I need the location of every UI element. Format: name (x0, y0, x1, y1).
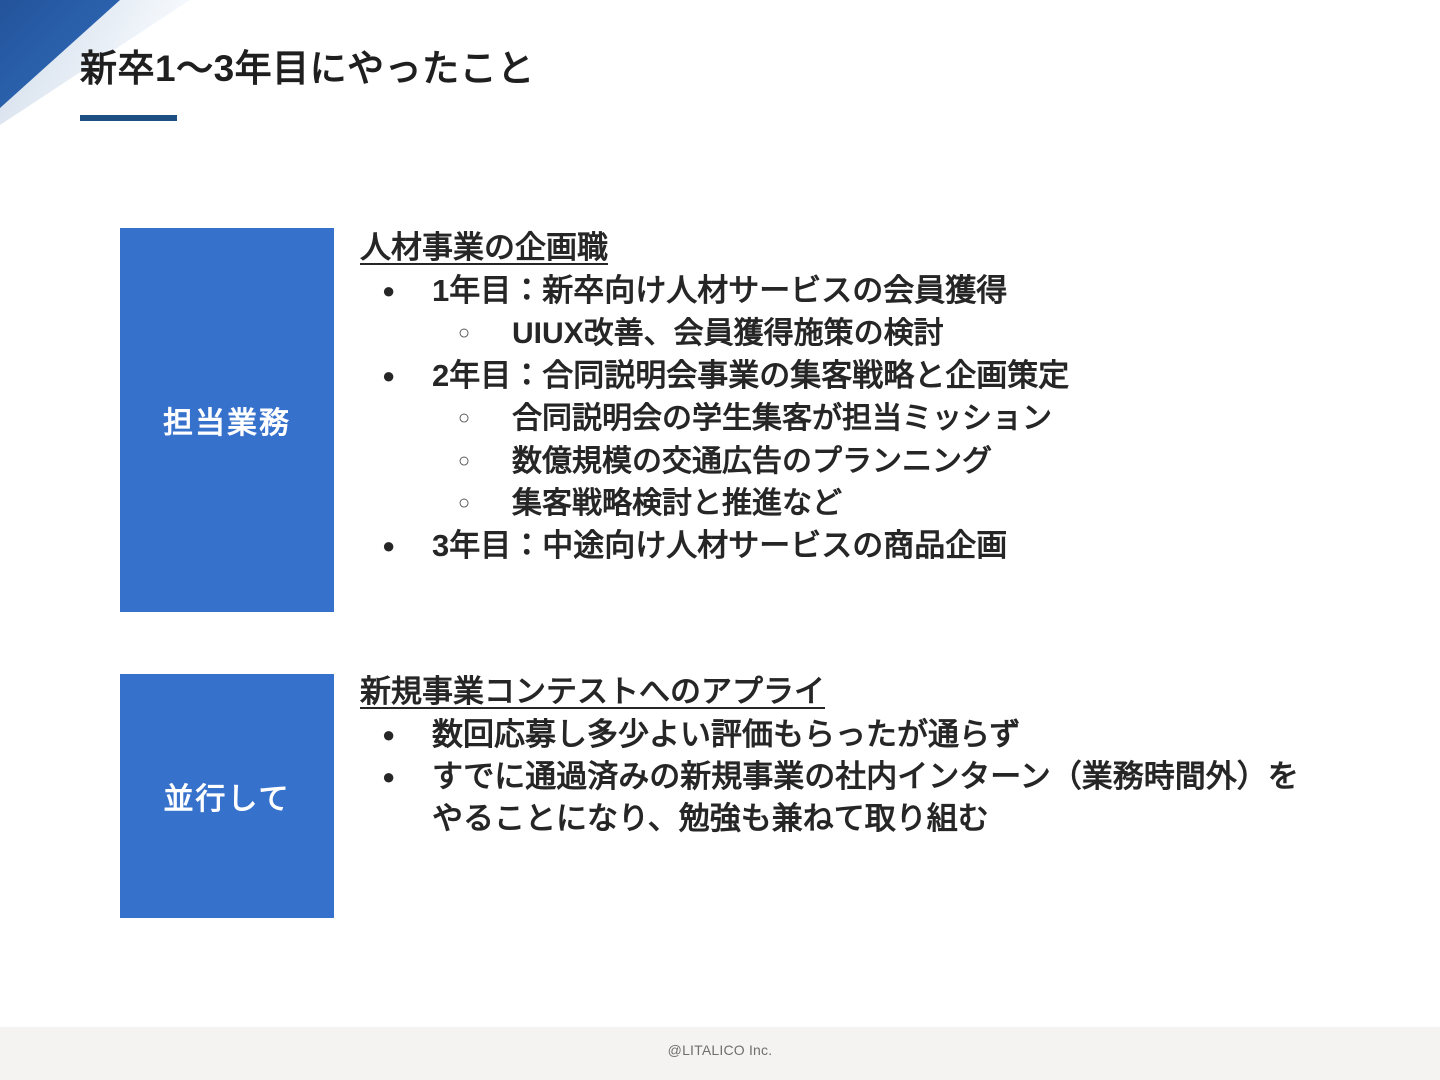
bullet-list-parallel: ● 数回応募し多少よい評価もらったが通らず ● すでに通過済みの新規事業の社内イ… (360, 714, 1310, 840)
section-heading: 人材事業の企画職 (360, 228, 1310, 268)
slide-canvas: 新卒1〜3年目にやったこと 担当業務 人材事業の企画職 ● 1年目：新卒向け人材… (0, 0, 1440, 1080)
section-tag-duties: 担当業務 (120, 228, 334, 612)
list-item-text: 数回応募し多少よい評価もらったが通らず (432, 717, 1020, 752)
bullet-filled-icon: ● (382, 525, 395, 567)
list-item: ○ 合同説明会の学生集客が担当ミッション (360, 397, 1310, 440)
list-item: ● 1年目：新卒向け人材サービスの会員獲得 (360, 270, 1310, 312)
bullet-hollow-icon: ○ (458, 397, 470, 439)
list-item: ● すでに通過済みの新規事業の社内インターン（業務時間外）をやることになり、勉強… (360, 756, 1310, 840)
title-underline-rule (80, 115, 177, 121)
bullet-filled-icon: ● (382, 714, 395, 756)
section-tag-label: 担当業務 (163, 398, 291, 442)
list-item-text: 集客戦略検討と推進など (512, 487, 842, 520)
list-item: ○ 数億規模の交通広告のプランニング (360, 440, 1310, 483)
list-item: ● 数回応募し多少よい評価もらったが通らず (360, 714, 1310, 756)
footer-copyright: @LITALICO Inc. (0, 1042, 1440, 1058)
section-tag-parallel: 並行して (120, 674, 334, 918)
section-heading: 新規事業コンテストへのアプライ (360, 672, 1310, 712)
bullet-filled-icon: ● (382, 270, 395, 312)
list-item: ○ 集客戦略検討と推進など (360, 482, 1310, 525)
bullet-filled-icon: ● (382, 355, 395, 397)
list-item: ○ UIUX改善、会員獲得施策の検討 (360, 312, 1310, 355)
list-item-text: 数億規模の交通広告のプランニング (512, 445, 992, 478)
list-item: ● 2年目：合同説明会事業の集客戦略と企画策定 (360, 355, 1310, 397)
list-item-text: すでに通過済みの新規事業の社内インターン（業務時間外）をやることになり、勉強も兼… (432, 759, 1299, 836)
list-item-text: 3年目：中途向け人材サービスの商品企画 (432, 528, 1007, 563)
bullet-hollow-icon: ○ (458, 440, 470, 482)
bullet-hollow-icon: ○ (458, 482, 470, 524)
list-item: ● 3年目：中途向け人材サービスの商品企画 (360, 525, 1310, 567)
list-item-text: 合同説明会の学生集客が担当ミッション (512, 402, 1052, 435)
list-item-text: 1年目：新卒向け人材サービスの会員獲得 (432, 273, 1007, 308)
bullet-list-duties: ● 1年目：新卒向け人材サービスの会員獲得 ○ UIUX改善、会員獲得施策の検討… (360, 270, 1310, 568)
section-content-duties: 人材事業の企画職 ● 1年目：新卒向け人材サービスの会員獲得 ○ UIUX改善、… (360, 228, 1310, 567)
list-item-text: UIUX改善、会員獲得施策の検討 (512, 317, 944, 350)
list-item-text: 2年目：合同説明会事業の集客戦略と企画策定 (432, 358, 1069, 393)
bullet-hollow-icon: ○ (458, 312, 470, 354)
bullet-filled-icon: ● (382, 756, 395, 798)
section-content-parallel: 新規事業コンテストへのアプライ ● 数回応募し多少よい評価もらったが通らず ● … (360, 672, 1310, 840)
page-title: 新卒1〜3年目にやったこと (80, 38, 535, 92)
section-tag-label: 並行して (163, 774, 290, 818)
